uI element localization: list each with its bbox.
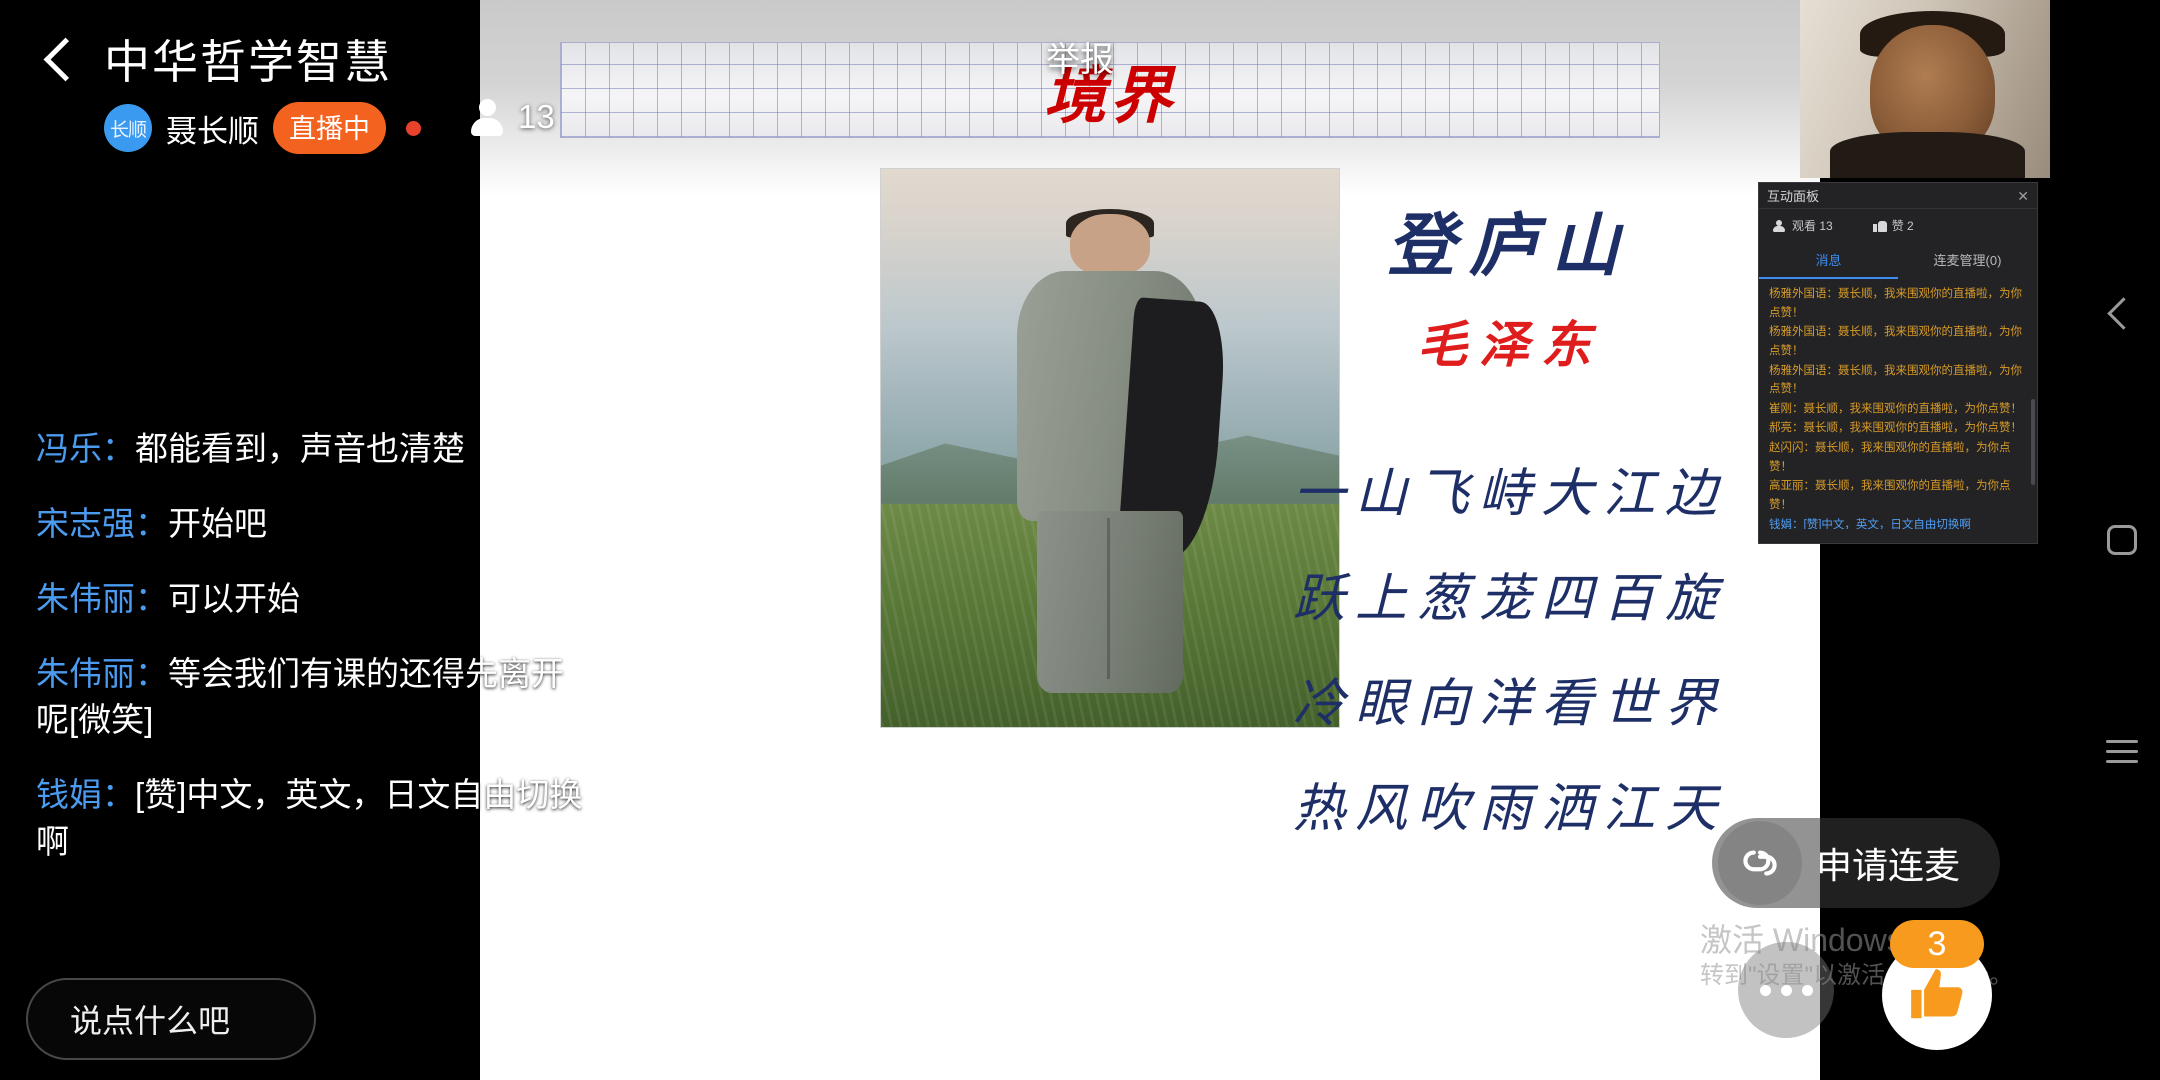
nav-menu-line bbox=[2106, 740, 2138, 743]
thumb-up-icon bbox=[1906, 964, 1968, 1026]
panel-message: 郝亮：聂长顺，我来围观你的直播啦，为你点赞！ bbox=[1769, 419, 2027, 438]
photo-figure bbox=[1009, 214, 1211, 694]
interactive-panel-stats: 观看 13 赞 2 bbox=[1759, 209, 2037, 238]
nav-home-icon[interactable] bbox=[2107, 525, 2137, 555]
chat-text: 都能看到，声音也清楚 bbox=[135, 430, 465, 467]
chat-input[interactable]: 说点什么吧 bbox=[26, 978, 316, 1060]
panel-scrollbar[interactable] bbox=[2031, 399, 2035, 485]
page-title: 中华哲学智慧 bbox=[104, 26, 392, 92]
poem-line: 冷眼向洋看世界 bbox=[1240, 661, 1780, 736]
tab-messages[interactable]: 消息 bbox=[1759, 244, 1898, 279]
viewer-stat: 观看 13 bbox=[1773, 217, 1833, 234]
chat-username: 冯乐 bbox=[36, 430, 102, 467]
chat-text: 开始吧 bbox=[168, 505, 267, 542]
status-badge: 直播中 bbox=[273, 102, 386, 154]
like-stat: 赞 2 bbox=[1873, 217, 1914, 234]
panel-message: 杨雅外国语：聂长顺，我来围观你的直播啦，为你点赞！ bbox=[1769, 323, 2027, 360]
chat-message: 朱伟丽：可以开始 bbox=[36, 576, 596, 623]
avatar[interactable]: 长顺 bbox=[104, 104, 152, 152]
interactive-panel-header: 互动面板 ✕ bbox=[1759, 183, 2037, 209]
host-info-row: 长顺 聂长顺 直播中 bbox=[104, 102, 421, 154]
chat-input-placeholder: 说点什么吧 bbox=[70, 996, 230, 1042]
figure-legs bbox=[1037, 511, 1182, 693]
viewer-count-overlay: 13 bbox=[470, 98, 555, 136]
panel-message-highlighted: 钱娟：[赞]中文，英文，日文自由切换啊 bbox=[1769, 516, 2027, 530]
chat-overlay-column: 中华哲学智慧 长顺 聂长顺 直播中 冯乐：都能看到，声音也清楚 宋志强：开始吧 … bbox=[0, 0, 480, 1080]
chat-message: 朱伟丽：等会我们有课的还得先离开呢[微笑] bbox=[36, 651, 596, 745]
video-person-body bbox=[1830, 132, 2025, 178]
shared-slide: 境界 登庐山 毛泽东 一山飞峙大江边 跃上葱茏四百旋 冷眼向洋看世界 热风吹雨洒… bbox=[480, 0, 1820, 1080]
interactive-panel: 互动面板 ✕ 观看 13 赞 2 消息 连麦管理(0) 杨雅外国语：聂长顺，我来… bbox=[1758, 182, 2038, 544]
more-dot bbox=[1760, 985, 1771, 996]
slide-poem: 登庐山 毛泽东 一山飞峙大江边 跃上葱茏四百旋 冷眼向洋看世界 热风吹雨洒江天 bbox=[1240, 190, 1780, 871]
nav-menu-line bbox=[2106, 760, 2138, 763]
chat-username: 宋志强 bbox=[36, 505, 135, 542]
chat-username: 钱娟 bbox=[36, 776, 102, 813]
chat-separator: ： bbox=[135, 505, 168, 542]
like-stat-label: 赞 2 bbox=[1892, 217, 1914, 234]
thumb-up-icon bbox=[1873, 220, 1887, 232]
chat-username: 朱伟丽 bbox=[36, 580, 135, 617]
live-dot-icon bbox=[406, 121, 421, 136]
interactive-panel-message-list: 杨雅外国语：聂长顺，我来围观你的直播啦，为你点赞！ 杨雅外国语：聂长顺，我来围观… bbox=[1759, 279, 2037, 529]
request-mic-button[interactable]: 申请连麦 bbox=[1712, 818, 2000, 908]
more-dot bbox=[1802, 985, 1813, 996]
chat-separator: ： bbox=[102, 430, 135, 467]
back-chevron-icon[interactable] bbox=[38, 38, 82, 82]
panel-message: 杨雅外国语：聂长顺，我来围观你的直播啦，为你点赞！ bbox=[1769, 285, 2027, 322]
panel-message: 杨雅外国语：聂长顺，我来围观你的直播啦，为你点赞！ bbox=[1769, 362, 2027, 399]
nav-menu-line bbox=[2106, 750, 2138, 753]
chat-username: 朱伟丽 bbox=[36, 655, 135, 692]
link-connect-icon bbox=[1718, 821, 1802, 905]
host-video-thumbnail[interactable] bbox=[1800, 0, 2050, 178]
viewer-count-value: 13 bbox=[518, 98, 555, 136]
live-stream-screen: 境界 登庐山 毛泽东 一山飞峙大江边 跃上葱茏四百旋 冷眼向洋看世界 热风吹雨洒… bbox=[0, 0, 2160, 1080]
interactive-panel-tabs: 消息 连麦管理(0) bbox=[1759, 244, 2037, 279]
chat-message-list: 冯乐：都能看到，声音也清楚 宋志强：开始吧 朱伟丽：可以开始 朱伟丽：等会我们有… bbox=[36, 426, 596, 894]
close-icon[interactable]: ✕ bbox=[2017, 189, 2029, 203]
request-mic-label: 申请连麦 bbox=[1816, 837, 1960, 889]
panel-message: 崔刚：聂长顺，我来围观你的直播啦，为你点赞！ bbox=[1769, 400, 2027, 419]
chat-text: 可以开始 bbox=[168, 580, 300, 617]
poem-line: 跃上葱茏四百旋 bbox=[1240, 556, 1780, 631]
person-icon bbox=[470, 99, 504, 135]
poem-author: 毛泽东 bbox=[1240, 305, 1780, 377]
poem-title: 登庐山 bbox=[1240, 190, 1780, 289]
figure-head bbox=[1070, 214, 1151, 276]
chat-separator: ： bbox=[135, 580, 168, 617]
nav-back-icon[interactable] bbox=[2104, 300, 2134, 330]
nav-menu-icon[interactable] bbox=[2106, 740, 2138, 762]
panel-message: 高亚丽：聂长顺，我来围观你的直播啦，为你点赞！ bbox=[1769, 477, 2027, 514]
chat-message: 冯乐：都能看到，声音也清楚 bbox=[36, 426, 596, 473]
viewer-icon bbox=[1773, 220, 1787, 232]
poem-line-list: 一山飞峙大江边 跃上葱茏四百旋 冷眼向洋看世界 热风吹雨洒江天 bbox=[1240, 451, 1780, 841]
chat-message: 钱娟：[赞]中文，英文，日文自由切换啊 bbox=[36, 772, 596, 866]
tab-mic-management[interactable]: 连麦管理(0) bbox=[1898, 244, 2037, 279]
more-options-button[interactable] bbox=[1738, 942, 1834, 1038]
android-navigation-bar bbox=[2090, 0, 2160, 1080]
poem-line: 一山飞峙大江边 bbox=[1240, 451, 1780, 526]
host-name: 聂长顺 bbox=[166, 106, 259, 151]
interactive-panel-title: 互动面板 bbox=[1767, 186, 1819, 205]
like-count-badge: 3 bbox=[1890, 920, 1984, 968]
chat-separator: ： bbox=[102, 776, 135, 813]
panel-message: 赵闪闪：聂长顺，我来围观你的直播啦，为你点赞！ bbox=[1769, 439, 2027, 476]
more-dot bbox=[1781, 985, 1792, 996]
chat-message: 宋志强：开始吧 bbox=[36, 501, 596, 548]
chat-separator: ： bbox=[135, 655, 168, 692]
poem-line: 热风吹雨洒江天 bbox=[1240, 766, 1780, 841]
viewer-stat-label: 观看 13 bbox=[1792, 217, 1833, 234]
